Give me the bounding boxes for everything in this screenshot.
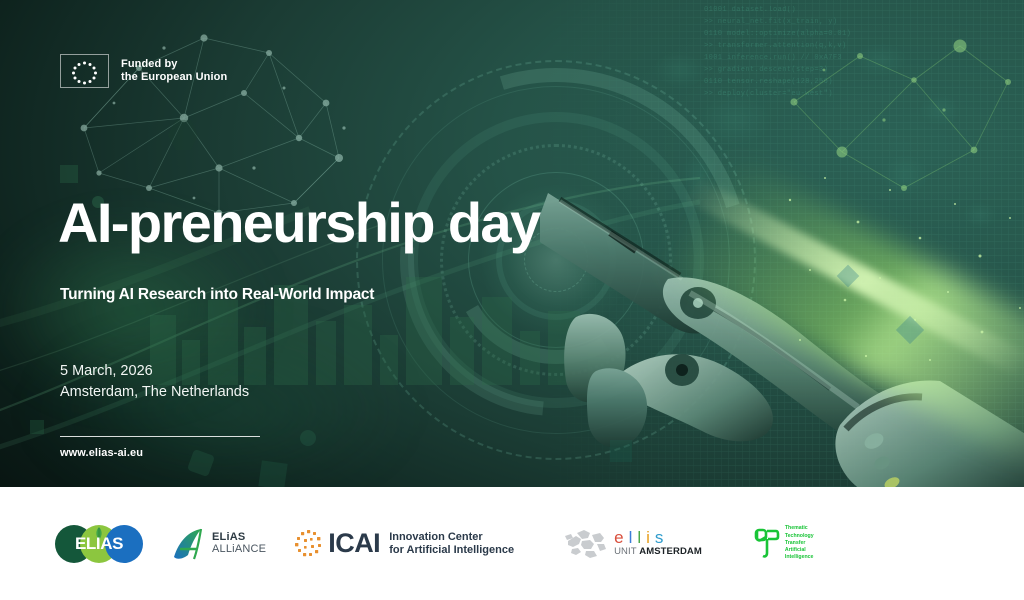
elias-alliance-line1: ELiAS <box>212 532 266 544</box>
page-title: AI-preneurship day <box>58 195 540 251</box>
icai-line2: for Artificial Intelligence <box>389 544 514 557</box>
footer-logo-bar: ELIAS ELiAS ALLiANCE <box>0 487 1024 600</box>
ttt-line2: Technology <box>785 533 814 540</box>
partner-logos: ELIAS ELiAS ALLiANCE <box>55 487 814 600</box>
elias-alliance-swoosh-icon <box>171 527 207 561</box>
ellis-subtitle: UNIT AMSTERDAM <box>614 546 702 557</box>
shape-square3-decor <box>258 460 287 487</box>
shape-circle2-decor <box>300 430 316 446</box>
ttt-line5: Intelligence <box>785 554 814 561</box>
icai-text: Innovation Center for Artificial Intelli… <box>389 531 514 556</box>
eu-funding-logo: Funded by the European Union <box>60 54 227 88</box>
sparkle-particles-decor <box>770 160 1024 370</box>
eu-funding-line2: the European Union <box>121 71 227 85</box>
event-location: Amsterdam, The Netherlands <box>60 382 249 403</box>
ellis-sub-bold: AMSTERDAM <box>639 546 702 557</box>
ttt-line1: Thematic <box>785 525 814 532</box>
logo-icai[interactable]: ICAI Innovation Center for Artificial In… <box>294 528 514 559</box>
elias-wordmark: ELIAS <box>55 525 143 563</box>
hero-section: 01001 dataset.load() >> neural_net.fit(x… <box>0 0 1024 487</box>
icai-line1: Innovation Center <box>389 531 514 544</box>
eu-funding-text: Funded by the European Union <box>121 58 227 85</box>
ellis-sub-prefix: UNIT <box>614 546 639 557</box>
ellis-wordmark: ellis <box>614 530 702 546</box>
page-subtitle: Turning AI Research into Real-World Impa… <box>60 286 374 304</box>
ttt-mark-icon <box>754 527 780 559</box>
ttt-text: Thematic Technology Transfer Artificial … <box>785 525 814 561</box>
logo-ellis-unit-amsterdam[interactable]: ellis UNIT AMSTERDAM <box>564 527 702 561</box>
elias-circles-icon: ELIAS <box>55 525 143 563</box>
ttt-line3: Transfer <box>785 540 814 547</box>
elias-alliance-text: ELiAS ALLiANCE <box>212 532 266 555</box>
eu-flag-icon <box>60 54 109 88</box>
icai-wordmark: ICAI <box>328 528 380 559</box>
logo-elias[interactable]: ELIAS <box>55 525 143 563</box>
ttt-line4: Artificial <box>785 547 814 554</box>
shape-square2-decor <box>30 420 44 434</box>
event-details: 5 March, 2026 Amsterdam, The Netherlands <box>60 361 249 403</box>
eu-funding-line1: Funded by <box>121 58 227 72</box>
shape-square-decor <box>60 165 78 183</box>
logo-elias-alliance[interactable]: ELiAS ALLiANCE <box>171 527 266 561</box>
website-url[interactable]: www.elias-ai.eu <box>60 447 143 459</box>
logo-thematic-technology-transfer[interactable]: Thematic Technology Transfer Artificial … <box>754 525 814 561</box>
icai-dots-icon <box>294 529 324 559</box>
poster-canvas: 01001 dataset.load() >> neural_net.fit(x… <box>0 0 1024 600</box>
elias-alliance-line2: ALLiANCE <box>212 544 266 556</box>
event-date: 5 March, 2026 <box>60 361 249 382</box>
shape-square4-decor <box>610 440 632 462</box>
divider-line <box>60 436 260 437</box>
europe-map-icon <box>564 527 608 561</box>
